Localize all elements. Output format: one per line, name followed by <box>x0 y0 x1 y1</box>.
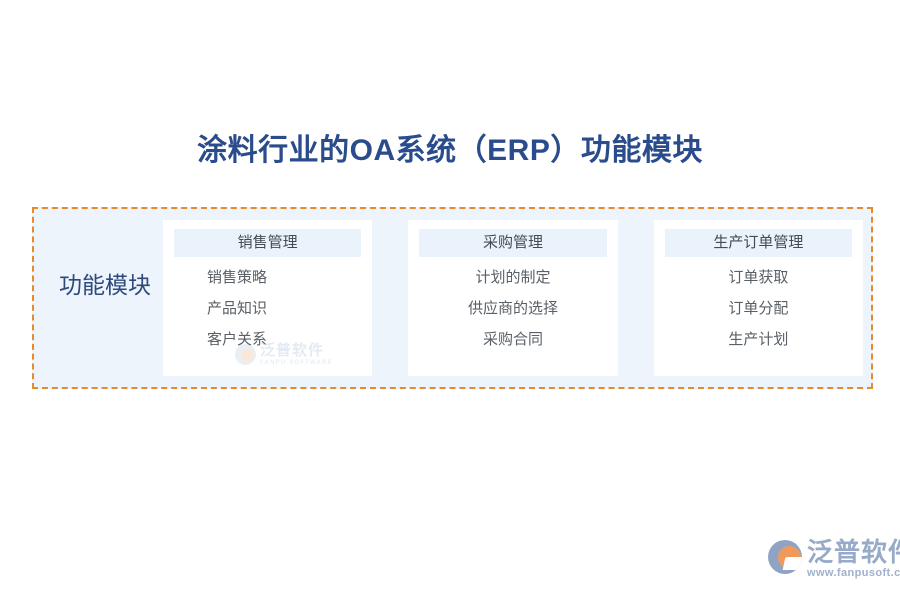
page-title: 涂料行业的OA系统（ERP）功能模块 <box>0 131 900 171</box>
brand-text: 泛普软件 www.fanpusoft.com <box>807 538 900 580</box>
function-module-diagram: 功能模块 销售管理 销售策略 产品知识 客户关系 泛普软件 FANPU SOFT… <box>32 207 873 389</box>
diagram-root-label: 功能模块 <box>46 269 164 301</box>
module-card-purchasing[interactable]: 采购管理 计划的制定 供应商的选择 采购合同 <box>408 220 617 376</box>
module-item[interactable]: 生产计划 <box>654 326 863 353</box>
module-item-list-production-order: 订单获取 订单分配 生产计划 <box>654 264 863 353</box>
module-header-sales: 销售管理 <box>174 229 361 257</box>
module-item[interactable]: 客户关系 <box>163 326 372 353</box>
module-item-list-purchasing: 计划的制定 供应商的选择 采购合同 <box>408 264 617 353</box>
brand-name: 泛普软件 <box>807 538 900 566</box>
module-card-production-order[interactable]: 生产订单管理 订单获取 订单分配 生产计划 <box>654 220 863 376</box>
module-item[interactable]: 产品知识 <box>163 295 372 322</box>
module-header-production-order: 生产订单管理 <box>665 229 852 257</box>
fanpu-logo-icon <box>768 540 802 574</box>
module-columns: 销售管理 销售策略 产品知识 客户关系 泛普软件 FANPU SOFTWARE … <box>163 220 863 376</box>
module-header-purchasing: 采购管理 <box>419 229 606 257</box>
module-item[interactable]: 采购合同 <box>408 326 617 353</box>
module-item-list-sales: 销售策略 产品知识 客户关系 <box>163 264 372 353</box>
module-item[interactable]: 供应商的选择 <box>408 295 617 322</box>
module-item[interactable]: 计划的制定 <box>408 264 617 291</box>
module-item[interactable]: 订单分配 <box>654 295 863 322</box>
module-item[interactable]: 销售策略 <box>163 264 372 291</box>
fanpu-watermark-en: FANPU SOFTWARE <box>260 360 333 366</box>
brand-url: www.fanpusoft.com <box>807 567 900 580</box>
module-item[interactable]: 订单获取 <box>654 264 863 291</box>
module-card-sales[interactable]: 销售管理 销售策略 产品知识 客户关系 泛普软件 FANPU SOFTWARE <box>163 220 372 376</box>
brand-logo: 泛普软件 www.fanpusoft.com <box>768 538 900 580</box>
